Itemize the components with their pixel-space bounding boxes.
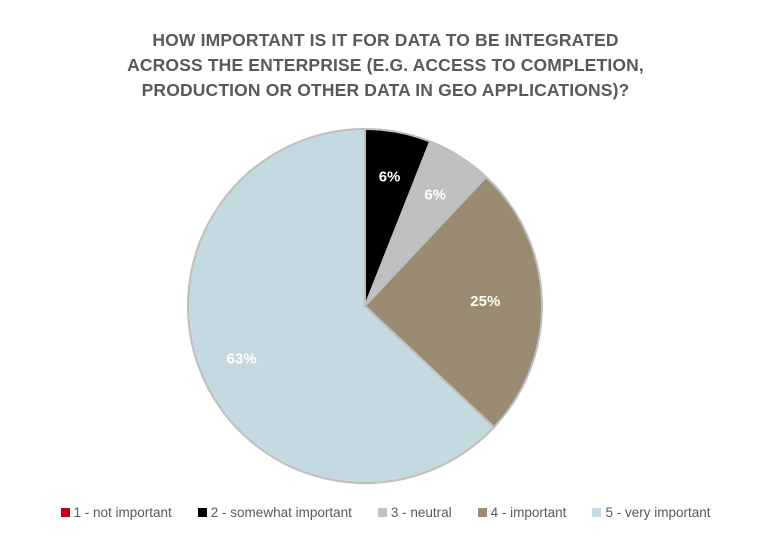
legend-swatch-icon [378,508,387,517]
legend-item-label: 5 - very important [605,505,710,520]
chart-title: HOW IMPORTANT IS IT FOR DATA TO BE INTEG… [18,28,753,103]
legend-swatch-icon [61,508,70,517]
pie-slice-value-label: 25% [470,293,500,310]
legend-item[interactable]: 4 - important [478,505,567,520]
pie-slice-value-label: 6% [424,186,446,203]
chart-legend: 1 - not important2 - somewhat important3… [0,500,771,524]
legend-swatch-icon [478,508,487,517]
legend-item[interactable]: 5 - very important [592,505,710,520]
legend-item[interactable]: 2 - somewhat important [198,505,352,520]
legend-item[interactable]: 1 - not important [61,505,172,520]
pie-chart-figure: HOW IMPORTANT IS IT FOR DATA TO BE INTEG… [0,0,771,546]
legend-item-label: 3 - neutral [391,505,452,520]
legend-item-label: 2 - somewhat important [211,505,352,520]
legend-swatch-icon [592,508,601,517]
pie-plot-area: 6%6%25%63% [0,118,771,496]
pie-slice-value-label: 6% [379,168,401,185]
legend-item-label: 1 - not important [74,505,172,520]
legend-item-label: 4 - important [491,505,567,520]
pie-slice-value-label: 63% [227,350,257,367]
legend-item[interactable]: 3 - neutral [378,505,452,520]
legend-swatch-icon [198,508,207,517]
pie-svg: 6%6%25%63% [0,118,771,496]
